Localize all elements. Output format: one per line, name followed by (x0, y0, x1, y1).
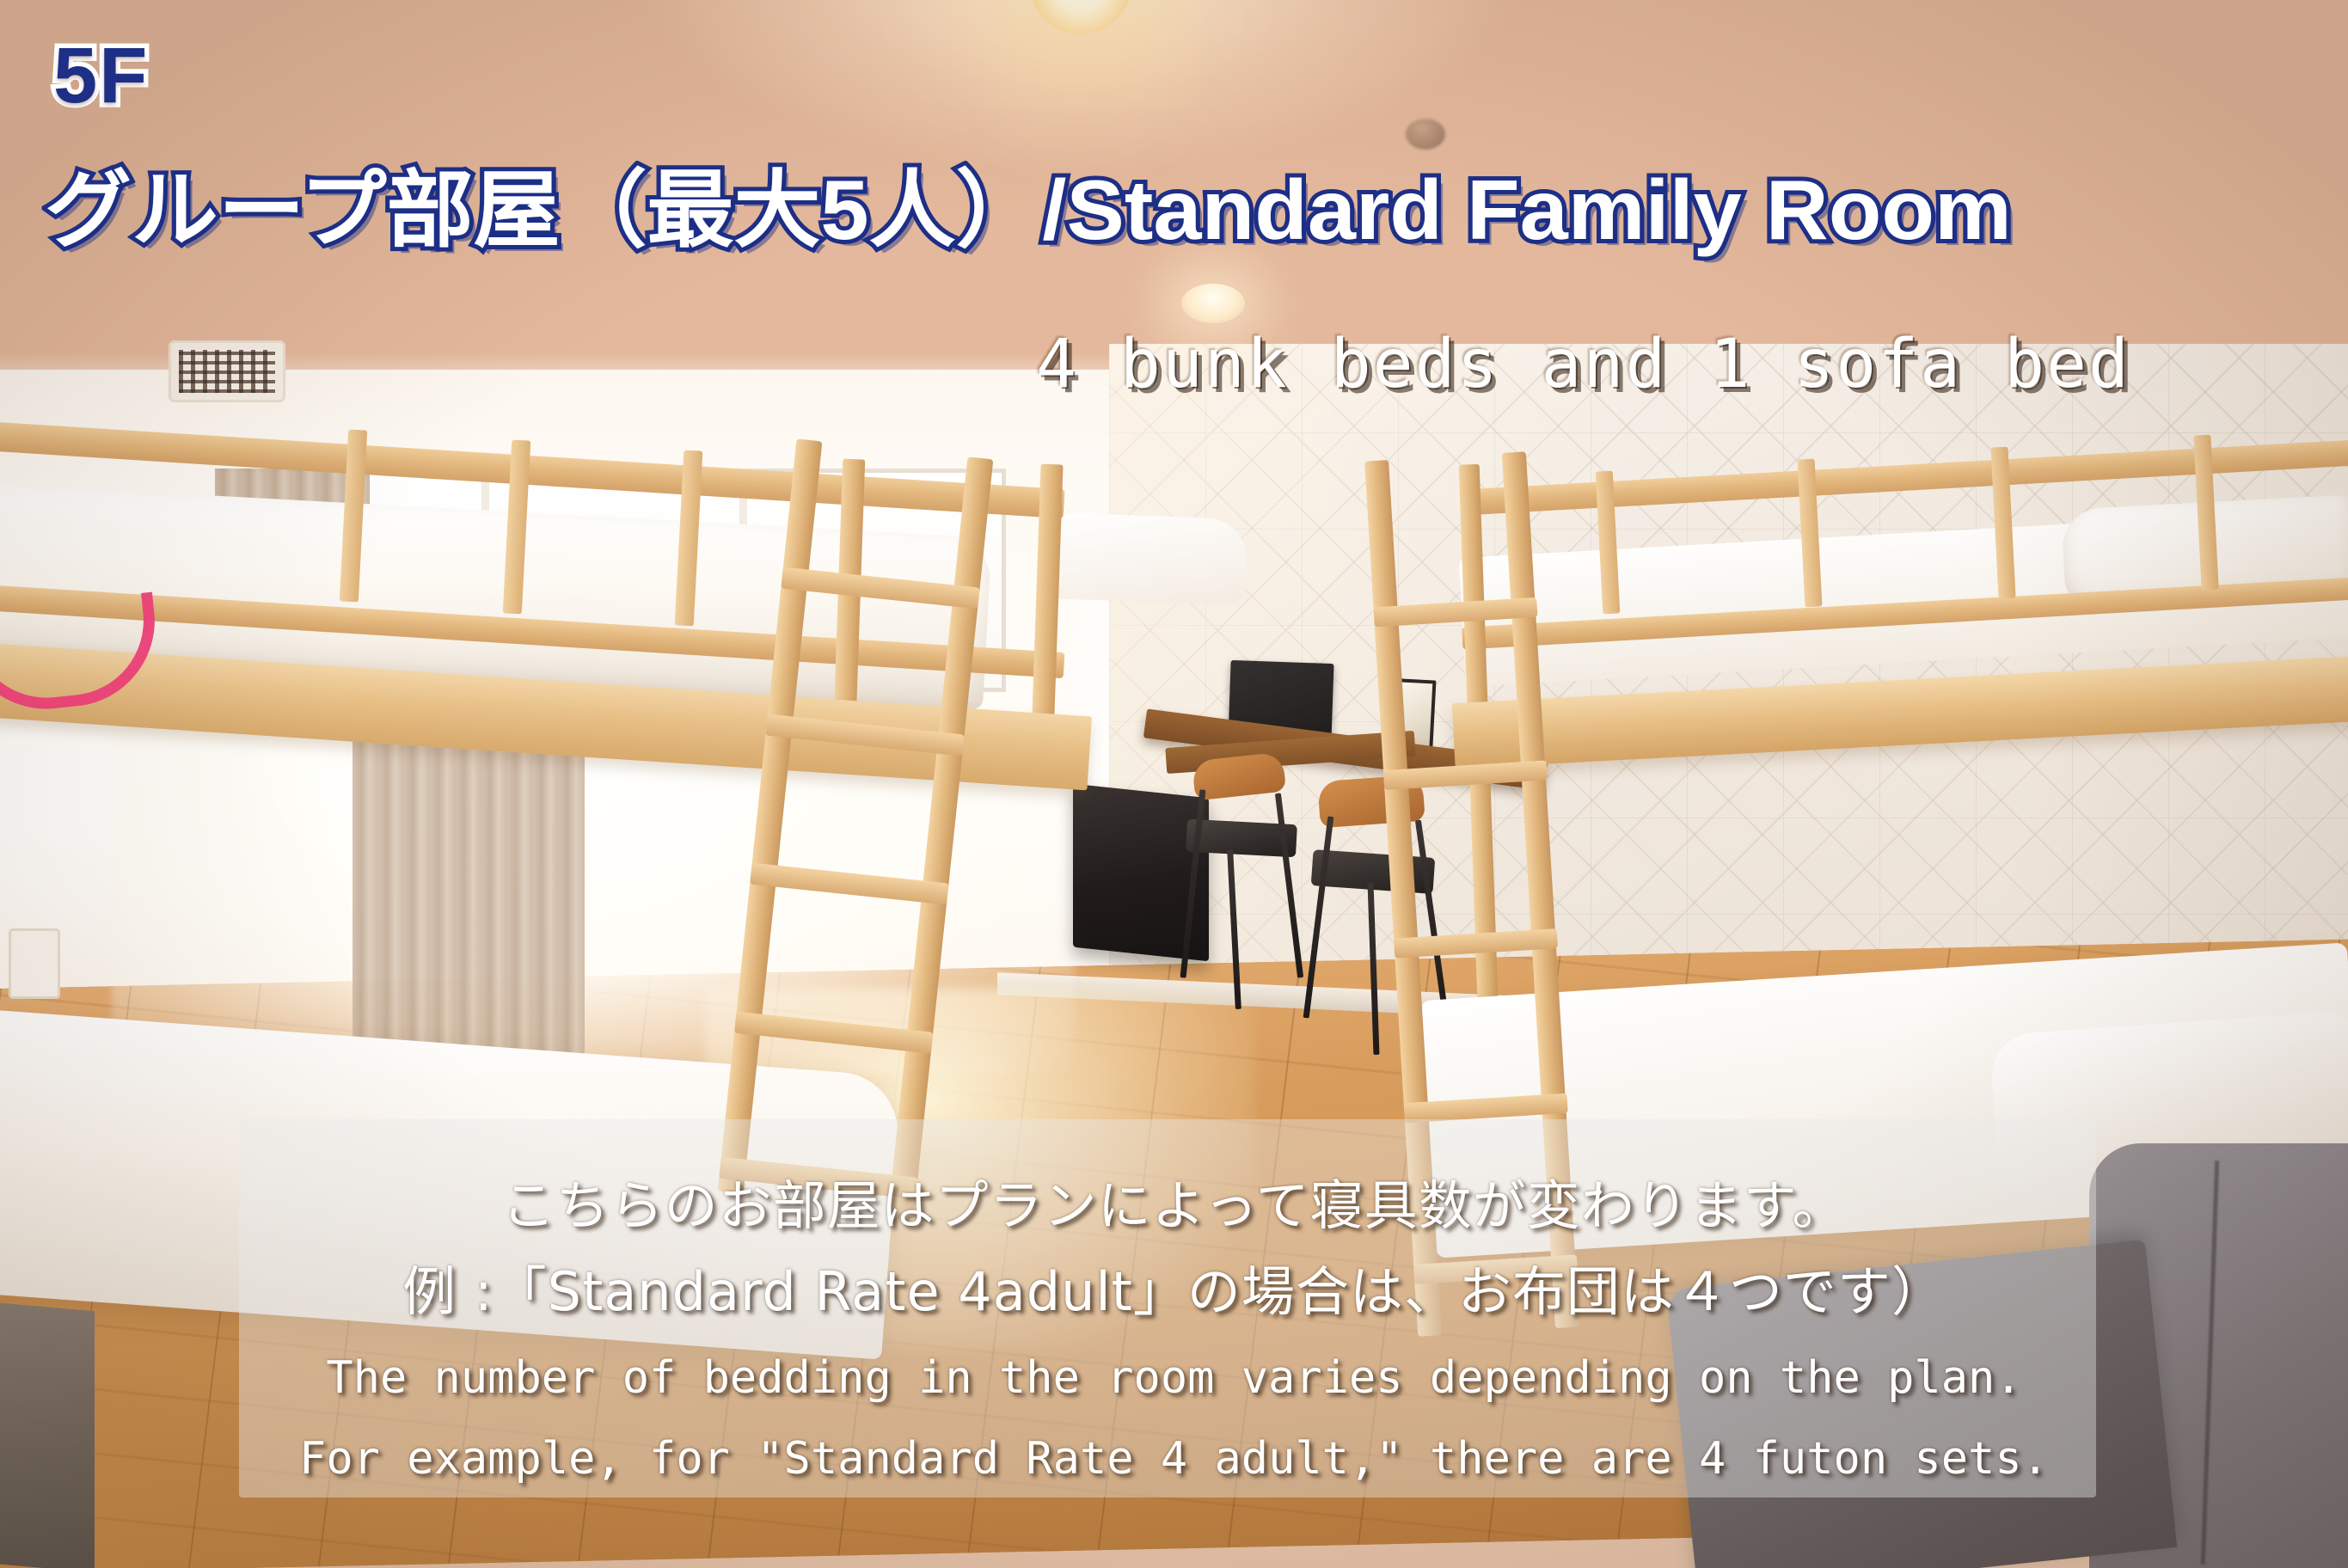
chair-leg (1303, 816, 1334, 1018)
caption-en-line-1: The number of bedding in the room varies… (0, 1352, 2348, 1404)
room-poster: 5F グループ部屋（最大5人）/Standard Family Room 4 b… (0, 0, 2348, 1568)
wall-vent-icon (169, 340, 285, 402)
ladder-rung (765, 714, 964, 756)
smoke-detector-icon (1406, 119, 1445, 150)
ladder-rung (734, 1012, 933, 1054)
page-title: グループ部屋（最大5人）/Standard Family Room (45, 168, 2012, 252)
chair-leg (1180, 789, 1206, 978)
subtitle-bed-count: 4 bunk beds and 1 sofa bed (1036, 331, 2130, 398)
caption-jp-line-1: こちらのお部屋はプランによって寝具数が変わります。 (0, 1162, 2348, 1240)
ladder-rung (750, 863, 948, 905)
chair (1178, 756, 1307, 980)
floor-badge: 5F (53, 36, 149, 115)
wall-socket-icon (9, 928, 60, 999)
caption-en-line-2: For example, for "Standard Rate 4 adult,… (0, 1433, 2348, 1485)
ladder-rung (781, 567, 979, 609)
second-ceiling-light-icon (1181, 284, 1245, 323)
chair-leg (1275, 793, 1303, 977)
caption-jp-line-2: 例 :「Standard Rate 4adult」の場合は、お布団は４つです） (0, 1248, 2348, 1326)
bunk-pillow (1039, 512, 1248, 605)
chair-back (1192, 752, 1286, 801)
